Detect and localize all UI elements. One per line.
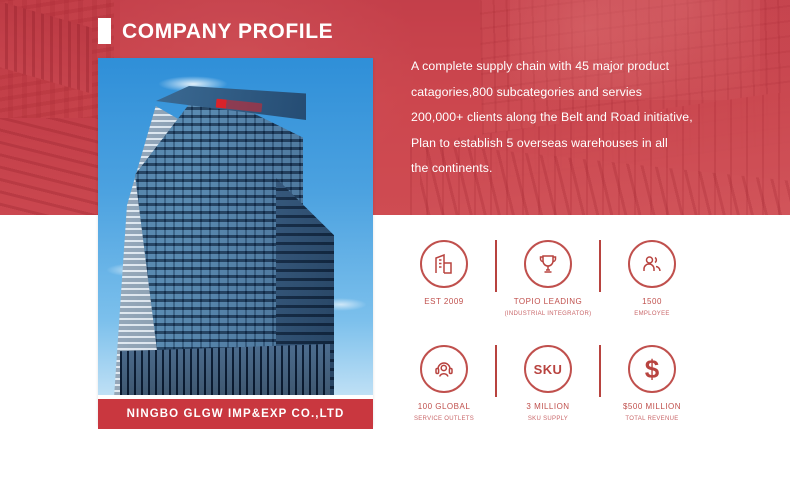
company-profile-page: COMPANY PROFILE A complete supply chain … — [0, 0, 790, 504]
stat-label-sub: TOTAL REVENUE — [623, 414, 681, 425]
dollar-icon: $ — [628, 345, 676, 393]
stats-row-2: 100 GLOBAL SERVICE OUTLETS SKU 3 MILLION… — [398, 345, 698, 450]
photo-caption-banner: NINGBO GLGW IMP&EXP CO.,LTD — [98, 399, 373, 429]
company-description: A complete supply chain with 45 major pr… — [411, 54, 711, 182]
stat-employee[interactable]: 1500 EMPLOYEE — [606, 240, 698, 319]
stat-divider — [594, 240, 606, 296]
headset-support-icon — [420, 345, 468, 393]
dollar-glyph: $ — [645, 356, 659, 382]
tower-base — [120, 344, 330, 395]
stat-sku-supply[interactable]: SKU 3 MILLION SKU SUPPLY — [502, 345, 594, 424]
photo-caption-text: NINGBO GLGW IMP&EXP CO.,LTD — [127, 408, 345, 420]
stat-divider — [490, 345, 502, 401]
stat-global-outlets[interactable]: 100 GLOBAL SERVICE OUTLETS — [398, 345, 490, 424]
description-line: 200,000+ clients along the Belt and Road… — [411, 105, 711, 131]
stat-divider — [594, 345, 606, 401]
stat-label: EST 2009 — [424, 297, 463, 309]
people-icon — [628, 240, 676, 288]
stat-label-main: 3 MILLION — [526, 402, 569, 413]
description-line: A complete supply chain with 45 major pr… — [411, 54, 711, 80]
stat-label: 1500 EMPLOYEE — [634, 297, 669, 319]
stat-label-main: $500 MILLION — [623, 402, 681, 413]
stat-label-sub: SERVICE OUTLETS — [414, 414, 474, 425]
stat-label: $500 MILLION TOTAL REVENUE — [623, 402, 681, 424]
trophy-icon — [524, 240, 572, 288]
description-line: Plan to establish 5 overseas warehouses … — [411, 131, 711, 157]
stat-label-main: EST 2009 — [424, 297, 463, 308]
stats-row-1: EST 2009 TOPIO LEADING — [398, 240, 698, 345]
title-accent-bar-icon — [98, 18, 111, 44]
stat-label-main: 1500 — [634, 297, 669, 308]
stat-label: 3 MILLION SKU SUPPLY — [526, 402, 569, 424]
sku-glyph: SKU — [534, 362, 563, 377]
stat-label-main: TOPIO LEADING — [505, 297, 592, 308]
stat-est-2009[interactable]: EST 2009 — [398, 240, 490, 309]
stat-label-sub: SKU SUPPLY — [526, 414, 569, 425]
office-tower-photo — [98, 58, 373, 395]
stat-label: 100 GLOBAL SERVICE OUTLETS — [414, 402, 474, 424]
stats-grid: EST 2009 TOPIO LEADING — [398, 240, 698, 450]
page-title-text: COMPANY PROFILE — [122, 21, 333, 42]
building-icon — [420, 240, 468, 288]
stat-label: TOPIO LEADING (INDUSTRIAL INTEGRATOR) — [505, 297, 592, 319]
stat-divider — [490, 240, 502, 296]
stat-label-sub: EMPLOYEE — [634, 309, 669, 320]
description-line: the continents. — [411, 156, 711, 182]
stat-label-sub: (INDUSTRIAL INTEGRATOR) — [505, 309, 592, 320]
stat-topio-leading[interactable]: TOPIO LEADING (INDUSTRIAL INTEGRATOR) — [502, 240, 594, 319]
page-title: COMPANY PROFILE — [98, 18, 333, 44]
stat-total-revenue[interactable]: $ $500 MILLION TOTAL REVENUE — [606, 345, 698, 424]
sku-text-icon: SKU — [524, 345, 572, 393]
stat-label-main: 100 GLOBAL — [414, 402, 474, 413]
company-photo-card: NINGBO GLGW IMP&EXP CO.,LTD — [98, 58, 373, 425]
description-line: catagories,800 subcategories and servies — [411, 80, 711, 106]
